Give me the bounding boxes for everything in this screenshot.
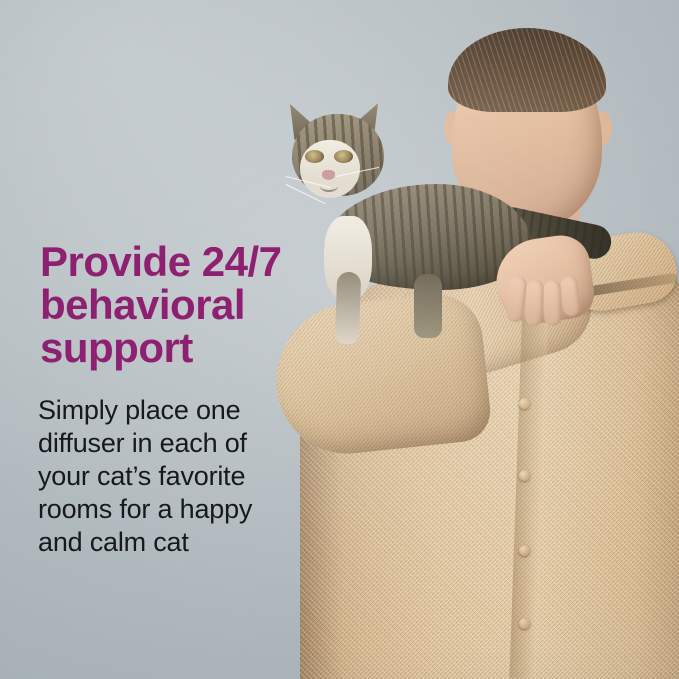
person-finger [525,280,544,327]
cat-hind-leg [414,274,442,338]
body-copy-line-5: and calm cat [38,526,308,559]
cat-eye-left [305,150,324,163]
shirt-button [519,618,530,629]
body-copy-line-4: rooms for a happy [38,493,308,526]
shirt-button [519,545,530,556]
headline-line-2: behavioral [40,283,340,326]
promo-image-canvas: Provide 24/7 behavioral support Simply p… [0,0,679,679]
body-copy-line-2: diffuser in each of [38,427,308,460]
headline-line-1: Provide 24/7 [40,240,340,283]
body-copy-line-1: Simply place one [38,394,308,427]
headline-line-3: support [40,326,340,369]
shirt-button [519,470,530,481]
body-copy-line-3: your cat’s favorite [38,460,308,493]
cat-nose [322,170,335,180]
person-finger [544,280,562,326]
shirt-button [519,398,530,409]
cat-eye-right [334,150,353,163]
body-copy: Simply place one diffuser in each of you… [38,394,308,559]
headline: Provide 24/7 behavioral support [40,240,340,369]
